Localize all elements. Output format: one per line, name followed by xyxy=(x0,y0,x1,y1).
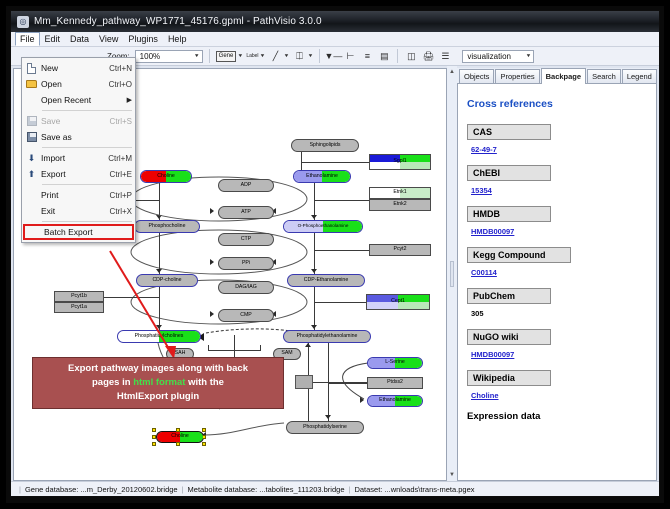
save-icon xyxy=(22,116,41,126)
status-dataset-label: Dataset: xyxy=(354,485,382,494)
file-menu-label: Export xyxy=(41,169,104,179)
arrow-icon xyxy=(311,269,317,273)
file-menu-item-batch-export[interactable]: Batch Export xyxy=(23,224,134,240)
node-label: ATP xyxy=(241,210,251,215)
status-bar: | Gene database: ...m_Derby_20120602.bri… xyxy=(11,481,659,496)
pathway-node-phosphocholine[interactable]: Phosphocholine xyxy=(134,220,200,233)
file-menu-label: Print xyxy=(41,190,104,200)
selection-handle[interactable] xyxy=(152,435,156,439)
pathvisio-icon: ◎ xyxy=(17,16,29,28)
node-label: CMP xyxy=(240,313,252,318)
file-menu-item-print[interactable]: Print Ctrl+P xyxy=(22,187,135,203)
file-menu-divider xyxy=(42,147,132,148)
selection-handle[interactable] xyxy=(202,428,206,432)
node-label: CDP-Ethanolamine xyxy=(304,278,348,283)
arrow-icon xyxy=(325,415,331,419)
file-menu-label: Exit xyxy=(41,206,104,216)
chevron-down-icon: ▼ xyxy=(307,54,313,59)
file-menu-item-exit[interactable]: Exit Ctrl+X xyxy=(22,203,135,219)
file-menu-item-save-as[interactable]: Save as xyxy=(22,129,135,145)
callout-line2-emphasis: html format xyxy=(133,377,185,388)
pathway-node-cmp[interactable]: CMP xyxy=(218,309,274,322)
edge xyxy=(314,250,369,251)
panel-splitter[interactable]: ▲ ▼ xyxy=(447,66,457,481)
node-label: Ethanolamine xyxy=(306,174,338,179)
node-label: Ptdss2 xyxy=(387,380,403,385)
edge xyxy=(328,383,367,384)
edge xyxy=(314,200,369,201)
node-label: Phosphatidylcholines xyxy=(135,334,184,339)
file-menu-divider xyxy=(42,221,132,222)
backpage-content[interactable]: Cross references CAS 62-49-7 ChEBI 15354… xyxy=(457,83,657,481)
arrow-icon xyxy=(210,208,214,214)
pathway-node-ppi[interactable]: PPi xyxy=(218,257,274,270)
file-menu-item-open[interactable]: Open Ctrl+O xyxy=(22,76,135,92)
file-menu-label: Batch Export xyxy=(44,227,129,237)
file-menu-item-open-recent[interactable]: Open Recent ▶ xyxy=(22,92,135,108)
import-icon: ⬇ xyxy=(22,153,41,164)
file-menu-item-import[interactable]: ⬇ Import Ctrl+M xyxy=(22,150,135,166)
node-label: Phosphatidylserine xyxy=(303,425,347,430)
side-panel: Objects Properties Backpage Search Legen… xyxy=(457,68,657,481)
export-icon: ⬆ xyxy=(22,169,41,180)
file-menu-label: Save as xyxy=(41,132,126,142)
file-menu-accelerator: Ctrl+N xyxy=(103,64,132,73)
status-gene-database-label: Gene database: xyxy=(25,485,78,494)
file-menu-accelerator: Ctrl+P xyxy=(104,191,132,200)
node-label: Etnk2 xyxy=(393,202,406,207)
align-left-icon[interactable]: ⊢ xyxy=(343,49,357,63)
node-label: L-Serine xyxy=(385,360,405,365)
label-tool-dropdown[interactable]: Label ▼ xyxy=(246,53,265,59)
gene-tool-dropdown[interactable]: Gene ▼ xyxy=(216,51,244,62)
chevron-down-icon: ▼ xyxy=(284,54,290,59)
gene-tool-label: Gene xyxy=(216,51,237,62)
file-menu-label: New xyxy=(41,63,103,73)
file-menu-divider xyxy=(42,184,132,185)
xref-source-cas: CAS xyxy=(467,124,551,140)
status-separator: | xyxy=(348,485,350,494)
pathway-node-ptdss2[interactable]: Ptdss2 xyxy=(367,377,423,389)
callout-line1: Export pathway images along with back xyxy=(68,363,248,374)
open-folder-icon xyxy=(22,80,41,88)
tab-properties[interactable]: Properties xyxy=(495,69,539,83)
callout-line3: HtmlExport plugin xyxy=(117,391,199,402)
xref-source-wikipedia: Wikipedia xyxy=(467,370,551,386)
selection-handle[interactable] xyxy=(202,442,206,446)
backpage-icon[interactable]: ☰ xyxy=(438,49,452,63)
shape-tool-icon: ⎅ xyxy=(292,49,306,63)
side-panel-tabstrip: Objects Properties Backpage Search Legen… xyxy=(457,68,657,83)
xref-source-kegg-compound: Kegg Compound xyxy=(467,247,571,263)
edge xyxy=(260,345,261,351)
application-window: ◎ Mm_Kennedy_pathway_WP1771_45176.gpml -… xyxy=(10,10,660,497)
file-menu-item-export[interactable]: ⬆ Export Ctrl+E xyxy=(22,166,135,182)
file-menu-accelerator: Ctrl+X xyxy=(104,207,132,216)
xref-source-nugo-wiki: NuGO wiki xyxy=(467,329,551,345)
pathway-node-choline[interactable]: Choline xyxy=(140,170,192,183)
file-menu-dropdown[interactable]: New Ctrl+N Open Ctrl+O Open Recent ▶ Sav… xyxy=(21,57,136,243)
node-label: Choline xyxy=(171,434,189,439)
edge xyxy=(301,162,369,163)
pathway-node-ethanolamine-bottom[interactable]: Ethanolamine xyxy=(367,395,423,407)
chevron-down-icon: ▼ xyxy=(260,54,266,59)
edge xyxy=(234,335,235,357)
pathway-node-etnk1[interactable]: Etnk1 xyxy=(369,187,431,199)
node-label: Etnk1 xyxy=(393,190,406,195)
line-tool-icon: ╱ xyxy=(269,49,283,63)
node-label: Pcyt1a xyxy=(71,305,87,310)
callout-annotation: Export pathway images along with back pa… xyxy=(32,357,284,409)
pathway-node-phosphatidylcholines[interactable]: Phosphatidylcholines xyxy=(117,330,201,343)
status-dataset-value: ...wnloads\trans-meta.pgex xyxy=(384,485,474,494)
xref-source-chebi: ChEBI xyxy=(467,165,551,181)
node-label: ADP xyxy=(241,183,252,188)
selection-group[interactable]: Choline xyxy=(152,427,208,447)
edge xyxy=(314,302,366,303)
menu-item-file[interactable]: File xyxy=(15,32,40,46)
arrow-icon xyxy=(360,397,364,403)
zoom-combobox[interactable]: 100% ▼ xyxy=(135,50,203,63)
node-label: Sgpl1 xyxy=(393,159,406,164)
toolbar-separator xyxy=(397,49,398,63)
node-label: SAM xyxy=(281,351,292,356)
submenu-arrow-icon: ▶ xyxy=(123,96,132,104)
pathway-node-pcyt2[interactable]: Pcyt2 xyxy=(369,244,431,256)
node-label: DAG/IAG xyxy=(235,285,257,290)
arrow-icon xyxy=(210,259,214,265)
status-metabolite-database-label: Metabolite database: xyxy=(188,485,258,494)
expression-data-heading: Expression data xyxy=(467,411,647,422)
menu-item-edit[interactable]: Edit xyxy=(40,32,66,46)
pathway-node-ctp[interactable]: CTP xyxy=(218,233,274,246)
arrow-icon xyxy=(210,311,214,317)
pathway-node-sphingolipids[interactable]: Sphingolipids xyxy=(291,139,359,152)
xref-value-nugo-wiki[interactable]: HMDB00097 xyxy=(471,350,647,359)
pathway-node-atp[interactable]: ATP xyxy=(218,206,274,219)
status-separator: | xyxy=(19,485,21,494)
stack-vertical-icon[interactable]: ≡ xyxy=(360,49,374,63)
arrow-icon xyxy=(305,343,311,347)
menu-item-view[interactable]: View xyxy=(94,32,123,46)
visualization-combobox[interactable]: visualization ▼ xyxy=(462,50,534,63)
node-label: Phosphocholine xyxy=(149,224,186,229)
pathway-node-adp[interactable]: ADP xyxy=(218,179,274,192)
node-label: SAH xyxy=(175,351,186,356)
chevron-down-icon: ▼ xyxy=(237,54,243,59)
menu-item-help[interactable]: Help xyxy=(163,32,192,46)
file-menu-label: Import xyxy=(41,153,102,163)
xref-value-wikipedia[interactable]: Choline xyxy=(471,391,647,400)
desktop-background: ◎ Mm_Kennedy_pathway_WP1771_45176.gpml -… xyxy=(0,0,670,509)
selection-handle[interactable] xyxy=(152,428,156,432)
title-bar: ◎ Mm_Kennedy_pathway_WP1771_45176.gpml -… xyxy=(11,11,659,32)
pathway-node-dag-iag[interactable]: DAG/IAG xyxy=(218,281,274,294)
xref-value-chebi[interactable]: 15354 xyxy=(471,186,647,195)
node-label: Phosphatidylethanolamine xyxy=(297,334,358,339)
edge xyxy=(313,382,367,383)
pathway-node-pcyt1a[interactable]: Pcyt1a xyxy=(54,302,104,313)
window-title: Mm_Kennedy_pathway_WP1771_45176.gpml - P… xyxy=(34,16,322,27)
node-label: Pcyt2 xyxy=(394,247,407,252)
xref-value-pubchem: 305 xyxy=(471,309,647,318)
pathway-node-etnk2[interactable]: Etnk2 xyxy=(369,199,431,211)
file-menu-accelerator: Ctrl+M xyxy=(102,154,132,163)
choline-edge xyxy=(204,421,289,443)
toolbar-separator xyxy=(209,49,210,63)
toolbar-separator xyxy=(319,49,320,63)
edge xyxy=(104,297,159,298)
file-menu-divider xyxy=(42,110,132,111)
node-label: PPi xyxy=(242,261,250,266)
xref-value-cas[interactable]: 62-49-7 xyxy=(471,145,647,154)
xref-value-kegg-compound[interactable]: C00114 xyxy=(471,268,647,277)
selection-handle[interactable] xyxy=(176,442,180,446)
line-tool-dropdown[interactable]: ╱ ▼ xyxy=(269,49,290,63)
file-menu-item-new[interactable]: New Ctrl+N xyxy=(22,60,135,76)
status-gene-database-value: ...m_Derby_20120602.bridge xyxy=(80,485,177,494)
file-menu-item-save: Save Ctrl+S xyxy=(22,113,135,129)
tab-legend[interactable]: Legend xyxy=(622,69,657,83)
pathway-node-cdp-ethanolamine[interactable]: CDP-Ethanolamine xyxy=(287,274,365,287)
file-menu-label: Open Recent xyxy=(41,95,123,105)
menu-item-plugins[interactable]: Plugins xyxy=(123,32,163,46)
status-metabolite-database-value: ...tabolites_111203.bridge xyxy=(259,485,344,494)
callout-line2-post: with the xyxy=(185,377,224,388)
file-menu-accelerator: Ctrl+E xyxy=(104,170,132,179)
pathway-node-pcyt1b[interactable]: Pcyt1b xyxy=(54,291,104,302)
shape-tool-dropdown[interactable]: ⎅ ▼ xyxy=(292,49,313,63)
splitter-grip[interactable] xyxy=(450,261,454,287)
visualization-value: visualization xyxy=(467,52,511,61)
file-menu-label: Save xyxy=(41,116,104,126)
menu-bar: File Edit Data View Plugins Help xyxy=(11,32,659,47)
menu-item-data[interactable]: Data xyxy=(65,32,94,46)
chevron-down-icon: ▼ xyxy=(194,54,200,59)
node-label: O-Phosphoethanolamine xyxy=(298,224,349,229)
pathway-node-o-phosphoethanolamine[interactable]: O-Phosphoethanolamine xyxy=(283,220,363,233)
file-menu-label: Open xyxy=(41,79,103,89)
node-label: CDP-choline xyxy=(152,278,181,283)
cross-references-heading: Cross references xyxy=(467,98,647,110)
xref-source-hmdb: HMDB xyxy=(467,206,551,222)
label-tool-label: Label xyxy=(246,53,258,59)
xref-source-pubchem: PubChem xyxy=(467,288,551,304)
pathway-node-choline-selected[interactable]: Choline xyxy=(156,431,204,443)
align-top-icon[interactable]: ▼― xyxy=(326,49,340,63)
arrow-icon xyxy=(156,325,162,329)
group-icon[interactable]: ◫ xyxy=(404,49,418,63)
arrow-icon xyxy=(156,269,162,273)
file-menu-accelerator: Ctrl+O xyxy=(103,80,132,89)
print-icon[interactable]: 🖨 xyxy=(421,49,435,63)
save-as-icon xyxy=(22,132,41,142)
pathway-node-phosphatidylethanolamine[interactable]: Phosphatidylethanolamine xyxy=(283,330,371,343)
pathway-node-sgpl1[interactable]: Sgpl1 xyxy=(369,154,431,170)
node-label: Cept1 xyxy=(391,299,405,304)
callout-line2-pre: pages in xyxy=(92,377,133,388)
file-menu-accelerator: Ctrl+S xyxy=(104,117,132,126)
pathway-node-cept1[interactable]: Cept1 xyxy=(366,294,430,310)
status-separator: | xyxy=(182,485,184,494)
node-label: Sphingolipids xyxy=(310,143,341,148)
distribute-icon[interactable]: ▤ xyxy=(377,49,391,63)
pathway-connector-box[interactable] xyxy=(295,375,313,389)
pathway-node-ethanolamine-top[interactable]: Ethanolamine xyxy=(293,170,351,183)
node-label: Choline xyxy=(157,174,175,179)
selection-handle[interactable] xyxy=(152,442,156,446)
node-label: Ethanolamine xyxy=(379,398,411,403)
zoom-value: 100% xyxy=(140,52,160,61)
pathway-node-cdp-choline[interactable]: CDP-choline xyxy=(136,274,198,287)
chevron-down-icon[interactable]: ▼ xyxy=(449,472,455,478)
pathway-node-phosphatidylserine[interactable]: Phosphatidylserine xyxy=(286,421,364,434)
chevron-down-icon: ▼ xyxy=(525,54,531,59)
tab-objects[interactable]: Objects xyxy=(459,69,494,83)
pathway-node-l-serine[interactable]: L-Serine xyxy=(367,357,423,369)
xref-value-hmdb[interactable]: HMDB00097 xyxy=(471,227,647,236)
node-label: CTP xyxy=(241,237,251,242)
tab-backpage[interactable]: Backpage xyxy=(541,68,586,84)
chevron-up-icon[interactable]: ▲ xyxy=(449,69,455,75)
new-document-icon xyxy=(22,63,41,74)
node-label: Pcyt1b xyxy=(71,294,87,299)
tab-search[interactable]: Search xyxy=(587,69,621,83)
